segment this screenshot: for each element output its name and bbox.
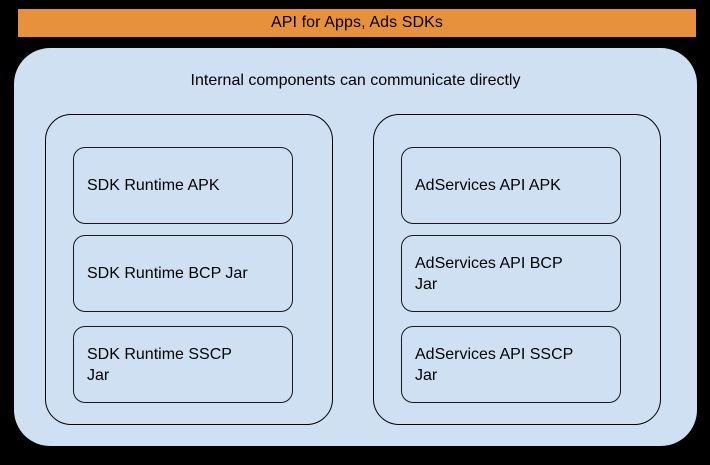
container-caption: Internal components can communicate dire… — [14, 71, 697, 91]
component-box-adservices-api-apk: AdServices API APK — [401, 147, 621, 224]
component-box-adservices-api-sscp-jar: AdServices API SSCP Jar — [401, 326, 621, 403]
component-label: SDK Runtime BCP Jar — [87, 263, 248, 284]
internal-components-container: Internal components can communicate dire… — [14, 48, 697, 446]
diagram-canvas: API for Apps, Ads SDKs Internal componen… — [0, 0, 710, 465]
sdk-runtime-group: SDK Runtime APK SDK Runtime BCP Jar SDK … — [45, 114, 333, 425]
component-box-adservices-api-bcp-jar: AdServices API BCP Jar — [401, 235, 621, 312]
component-label: AdServices API BCP Jar — [415, 253, 563, 295]
adservices-api-group: AdServices API APK AdServices API BCP Ja… — [373, 114, 661, 425]
component-label: SDK Runtime SSCP Jar — [87, 344, 232, 386]
component-box-sdk-runtime-apk: SDK Runtime APK — [73, 147, 293, 224]
component-box-sdk-runtime-sscp-jar: SDK Runtime SSCP Jar — [73, 326, 293, 403]
component-label: SDK Runtime APK — [87, 175, 220, 196]
component-label: AdServices API SSCP Jar — [415, 344, 573, 386]
api-banner-label: API for Apps, Ads SDKs — [271, 14, 443, 32]
api-banner: API for Apps, Ads SDKs — [18, 9, 696, 37]
component-label: AdServices API APK — [415, 175, 561, 196]
component-box-sdk-runtime-bcp-jar: SDK Runtime BCP Jar — [73, 235, 293, 312]
